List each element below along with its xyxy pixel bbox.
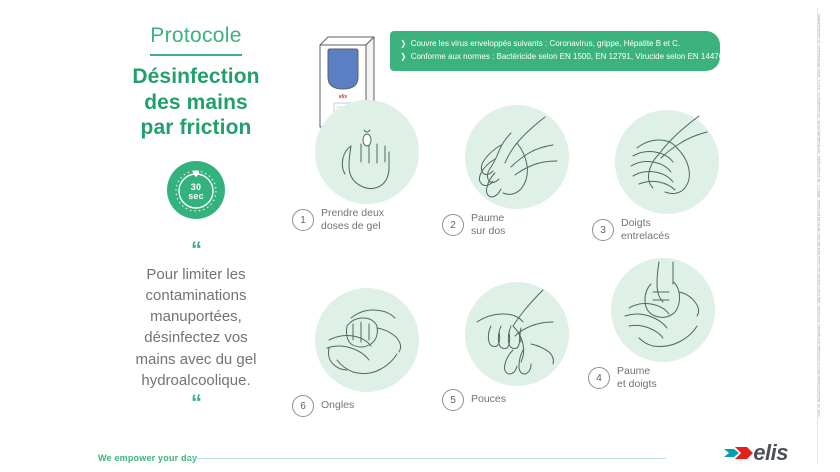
quote-close-mark: “ [96,394,296,412]
step-1-label: Prendre deux doses de gel [321,207,384,234]
step-3-caption: 3 Doigts entrelacés [592,217,742,244]
step-4-label-line-2: et doigts [617,378,657,391]
quote-line-2: contaminations [96,285,296,306]
fingernails-icon [315,288,419,392]
page-title-line-1: Désinfection [96,64,296,90]
duration-text: 30 sec [188,179,204,201]
step-3-label-line-2: entrelacés [621,230,669,243]
footer-divider [186,458,666,459]
step-4-illustration [611,258,715,362]
step-1-caption: 1 Prendre deux doses de gel [292,207,442,234]
legal-microtext: 07/20 - DS - Reproduction interdite. Pho… [818,14,834,424]
quote-line-6: hydroalcoolique. [96,370,296,391]
step-3-label-line-1: Doigts [621,217,669,230]
timer-badge-wrap: 30 sec [96,161,296,219]
elis-logo-mark-icon [722,443,756,463]
quote-line-5: mains avec du gel [96,349,296,370]
title-divider [150,54,242,56]
palm-and-fingers-icon [611,258,715,362]
step-4-caption: 4 Paume et doigts [588,365,738,392]
step-5-illustration [465,282,569,386]
chevron-right-icon: ❯ [401,38,407,51]
brand-tagline: We empower your day [98,453,197,463]
claims-banner-text-2: Conforme aux normes : Bactéricide selon … [411,51,726,64]
step-2-label-line-2: sur dos [471,225,505,238]
page-title-line-3: par friction [96,115,296,141]
quote-block: “ Pour limiter les contaminations manupo… [96,241,296,412]
page-kicker: Protocole [96,24,296,47]
quote-line-1: Pour limiter les [96,264,296,285]
claims-banner-text-1: Couvre les virus enveloppés suivants : C… [411,38,680,51]
step-4-label-line-1: Paume [617,365,657,378]
quote-line-3: manuportées, [96,306,296,327]
step-5-number: 5 [442,389,464,411]
step-6-number: 6 [292,395,314,417]
step-6: 6 Ongles [292,288,442,417]
step-1-label-line-1: Prendre deux [321,207,384,220]
step-5-label: Pouces [471,393,506,406]
elis-logo-word: elis [753,440,788,466]
step-2-label: Paume sur dos [471,212,505,239]
claims-banner-line-1: ❯ Couvre les virus enveloppés suivants :… [400,38,710,51]
step-3-label: Doigts entrelacés [621,217,669,244]
step-2-label-line-1: Paume [471,212,505,225]
interlaced-fingers-icon [615,110,719,214]
step-6-illustration [315,288,419,392]
step-6-label-line-1: Ongles [321,399,354,412]
duration-unit: sec [188,192,204,201]
claims-banner-line-2: ❯ Conforme aux normes : Bactéricide selo… [400,51,710,64]
thumbs-icon [465,282,569,386]
poster-canvas: Protocole Désinfection des mains par fri… [0,0,840,472]
step-5-label-line-1: Pouces [471,393,506,406]
quote-line-4: désinfectez vos [96,327,296,348]
step-4-label: Paume et doigts [617,365,657,392]
hand-under-dispenser-icon [315,100,419,204]
step-1-number: 1 [292,209,314,231]
legal-microtext-line: 07/20 - DS - Reproduction interdite. Pho… [818,14,822,416]
claims-banner: ❯ Couvre les virus enveloppés suivants :… [390,31,720,71]
step-5-caption: 5 Pouces [442,389,592,411]
step-1: 1 Prendre deux doses de gel [292,100,442,234]
step-2: 2 Paume sur dos [442,105,592,239]
step-5: 5 Pouces [442,282,592,411]
step-1-illustration [315,100,419,204]
step-3: 3 Doigts entrelacés [592,110,742,244]
footer: We empower your day elis [0,442,840,472]
palm-over-back-icon [465,105,569,209]
step-2-caption: 2 Paume sur dos [442,212,592,239]
page-title: Désinfection des mains par friction [96,64,296,141]
step-2-number: 2 [442,214,464,236]
page-title-line-2: des mains [96,90,296,116]
step-2-illustration [465,105,569,209]
chevron-right-icon: ❯ [401,51,407,64]
step-3-illustration [615,110,719,214]
step-4: 4 Paume et doigts [588,258,738,392]
quote-text: Pour limiter les contaminations manuport… [96,264,296,392]
quote-open-mark: “ [96,241,296,259]
step-6-caption: 6 Ongles [292,395,442,417]
step-6-label: Ongles [321,399,354,412]
step-3-number: 3 [592,219,614,241]
step-1-label-line-2: doses de gel [321,220,384,233]
elis-logo: elis [722,440,788,466]
duration-badge: 30 sec [167,161,225,219]
left-column: Protocole Désinfection des mains par fri… [96,24,296,424]
